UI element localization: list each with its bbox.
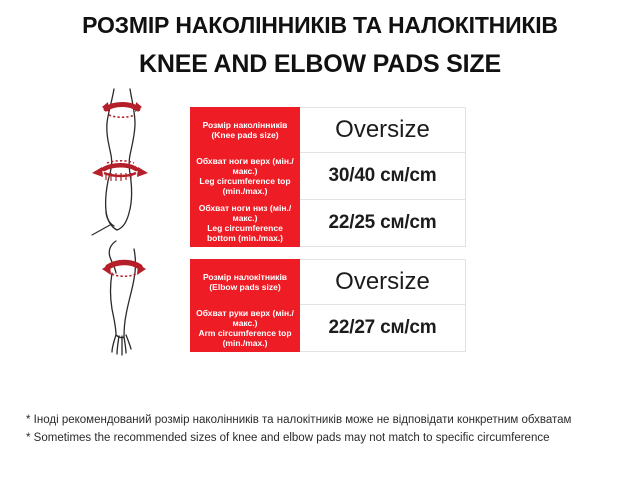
- row-label-en: Arm circumference top (min./max.): [193, 328, 297, 348]
- row-label-uk: Розмір наколінників: [193, 120, 297, 130]
- row-label-en: Leg circumference top (min./max.): [193, 176, 297, 196]
- page-title-ukrainian: РОЗМІР НАКОЛІННИКІВ ТА НАЛОКІТНИКІВ: [0, 12, 640, 38]
- knee-pads-size-table: Розмір наколінників (Knee pads size) Ove…: [190, 107, 466, 247]
- table-row: Обхват ноги верх (мін./макс.) Leg circum…: [191, 152, 466, 199]
- row-label-arm-top: Обхват руки верх (мін./макс.) Arm circum…: [191, 304, 300, 351]
- size-value: Oversize: [335, 116, 430, 143]
- leg-measure-illustration: [62, 87, 182, 242]
- table-row: Розмір наколінників (Knee pads size) Ove…: [191, 107, 466, 152]
- footnote-ukrainian: * Іноді рекомендований розмір наколінник…: [26, 412, 620, 430]
- row-value-elbow-size: Oversize: [300, 259, 466, 304]
- footnotes: * Іноді рекомендований розмір наколінник…: [26, 412, 620, 448]
- row-label-uk: Обхват ноги верх (мін./макс.): [193, 156, 297, 176]
- row-label-en: Leg circumference bottom (min./max.): [193, 223, 297, 243]
- page-title-english: KNEE AND ELBOW PADS SIZE: [0, 50, 640, 79]
- row-label-uk: Розмір налокітників: [193, 272, 297, 282]
- row-label-uk: Обхват руки верх (мін./макс.): [193, 308, 297, 328]
- footnote-english: * Sometimes the recommended sizes of kne…: [26, 430, 620, 448]
- row-value-leg-top: 30/40 см/cm: [300, 152, 466, 199]
- measurement-value: 22/25 см/cm: [329, 212, 437, 233]
- arm-measure-band: [102, 262, 146, 276]
- row-label-uk: Обхват ноги низ (мін./макс.): [193, 203, 297, 223]
- row-label-leg-top: Обхват ноги верх (мін./макс.) Leg circum…: [191, 152, 300, 199]
- row-label-knee-size: Розмір наколінників (Knee pads size): [191, 107, 300, 152]
- elbow-pads-size-table: Розмір налокітників (Elbow pads size) Ov…: [190, 259, 466, 352]
- table-row: Обхват руки верх (мін./макс.) Arm circum…: [191, 304, 466, 351]
- leg-bottom-measure-band: [92, 161, 148, 181]
- arm-measure-illustration: [62, 239, 182, 364]
- measurement-value: 30/40 см/cm: [329, 165, 437, 186]
- page-title: РОЗМІР НАКОЛІННИКІВ ТА НАЛОКІТНИКІВ KNEE…: [0, 0, 640, 79]
- row-label-en: (Elbow pads size): [193, 282, 297, 292]
- row-value-leg-bottom: 22/25 см/cm: [300, 200, 466, 247]
- table-row: Розмір налокітників (Elbow pads size) Ov…: [191, 259, 466, 304]
- measurement-value: 22/27 см/cm: [329, 317, 437, 338]
- table-row: Обхват ноги низ (мін./макс.) Leg circumf…: [191, 200, 466, 247]
- row-label-en: (Knee pads size): [193, 130, 297, 140]
- row-label-leg-bottom: Обхват ноги низ (мін./макс.) Leg circumf…: [191, 200, 300, 247]
- row-value-arm-top: 22/27 см/cm: [300, 304, 466, 351]
- content-area: Розмір наколінників (Knee pads size) Ove…: [0, 79, 640, 369]
- row-value-knee-size: Oversize: [300, 107, 466, 152]
- size-value: Oversize: [335, 268, 430, 295]
- row-label-elbow-size: Розмір налокітників (Elbow pads size): [191, 259, 300, 304]
